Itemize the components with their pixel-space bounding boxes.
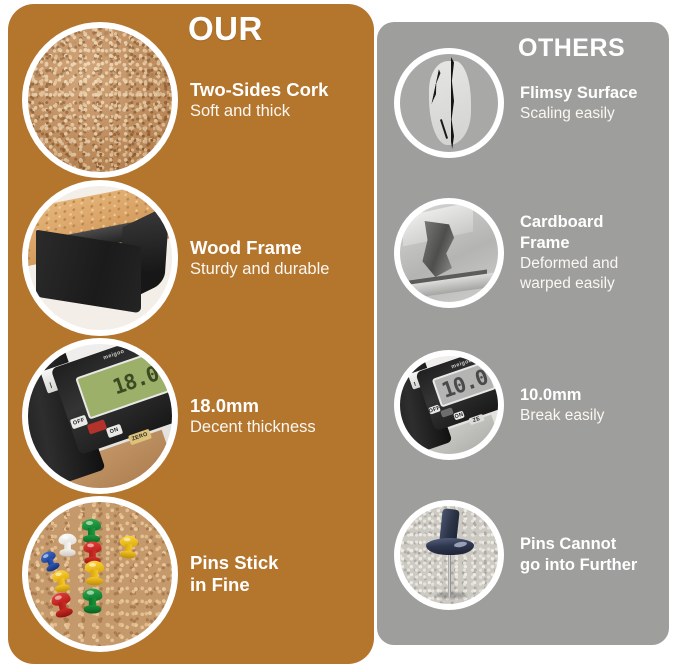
single-pin-on-hard-surface-photo [392,498,506,612]
feature-title: Two-Sides Cork [190,79,328,101]
others-feature-text-pins: Pins Cannot go into Further [506,534,637,576]
feature-title: Wood Frame [190,237,329,259]
our-feature-row-thickness: meigoo 18.0 OFF ON ZERO 18.0mm Decent th… [22,338,362,494]
push-pins-in-corkboard-photo [22,496,178,652]
torn-cardboard-frame-photo [392,196,506,310]
feature-title-line2: Frame [520,233,618,254]
others-feature-row-frame: Cardboard Frame Deformed and warped easi… [392,196,664,310]
others-feature-row-pins: Pins Cannot go into Further [392,498,664,612]
feature-title: 10.0mm [520,385,604,406]
feature-subtitle: Sturdy and durable [190,259,329,280]
feature-subtitle: Break easily [520,406,604,426]
feature-title: Pins Stick [190,552,278,574]
feature-subtitle: Soft and thick [190,101,328,122]
feature-title: Cardboard [520,212,618,233]
feature-subtitle: Decent thickness [190,417,316,438]
others-feature-text-surface: Flimsy Surface Scaling easily [506,83,637,124]
feature-title: 18.0mm [190,395,316,417]
others-feature-row-surface: Flimsy Surface Scaling easily [392,46,664,160]
our-feature-row-pins: Pins Stick in Fine [22,496,362,652]
caliper-reading: 18.0 [109,361,164,400]
wood-frame-corner-photo [22,180,178,336]
feature-subtitle: Scaling easily [520,104,637,124]
feature-title-line2: go into Further [520,555,637,576]
our-feature-text-pins: Pins Stick in Fine [178,552,278,596]
caliper-measuring-cork-photo: meigoo 18.0 OFF ON ZERO [22,338,178,494]
cork-surface-photo [22,22,178,178]
our-feature-text-thickness: 18.0mm Decent thickness [178,395,316,438]
feature-title: Flimsy Surface [520,83,637,104]
others-feature-text-frame: Cardboard Frame Deformed and warped easi… [506,212,618,294]
caliper-measuring-cardboard-photo: meigoo 10.0 OFF ON ZE [392,348,506,462]
feature-subtitle-line2: warped easily [520,274,618,294]
our-feature-text-cork: Two-Sides Cork Soft and thick [178,79,328,122]
others-feature-text-thickness: 10.0mm Break easily [506,385,604,426]
others-feature-row-thickness: meigoo 10.0 OFF ON ZE 10.0mm Break easil… [392,348,664,462]
cracked-flimsy-surface-photo [392,46,506,160]
feature-subtitle: Deformed and [520,254,618,274]
our-feature-text-wood-frame: Wood Frame Sturdy and durable [178,237,329,280]
feature-title-line2: in Fine [190,574,278,596]
feature-title: Pins Cannot [520,534,637,555]
our-feature-row-cork: Two-Sides Cork Soft and thick [22,22,362,178]
our-feature-row-wood-frame: Wood Frame Sturdy and durable [22,180,362,336]
